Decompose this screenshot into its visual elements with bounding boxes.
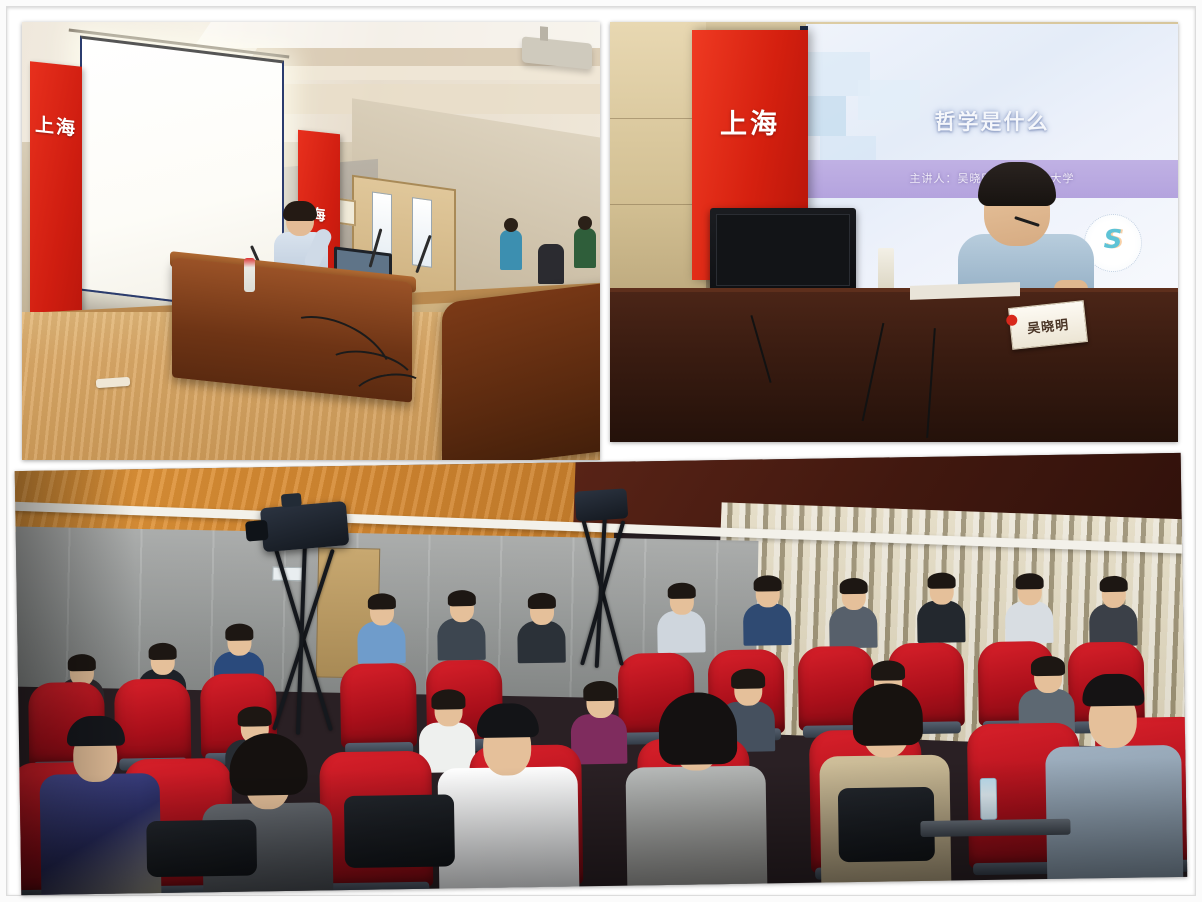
person-hair <box>753 575 781 591</box>
audience-member <box>1089 578 1138 643</box>
audience-member <box>657 584 706 649</box>
person-hair <box>583 681 617 702</box>
person-body <box>1005 601 1054 644</box>
person-hair <box>840 578 868 594</box>
audience-member <box>624 691 767 885</box>
photo-audience-wide <box>15 453 1188 895</box>
audience-member <box>538 244 564 284</box>
person-hair <box>229 733 308 796</box>
scene-lecture-hall: 上海 海 <box>22 22 600 460</box>
audience-member <box>916 574 965 639</box>
photo-speaker-closeup: 哲学是什么 主讲人：吴晓明 教授 复旦大学 S 上海 <box>610 22 1178 442</box>
person-hair <box>68 654 96 671</box>
audience-member <box>574 228 596 268</box>
person-hair <box>927 572 955 588</box>
podium <box>442 281 600 460</box>
photo-collage: 上海 海 <box>0 0 1202 902</box>
person-body <box>625 765 767 893</box>
person-hair <box>668 583 696 599</box>
person-body <box>743 603 792 646</box>
person-body <box>657 610 706 653</box>
person-hair <box>852 683 923 746</box>
bag <box>146 819 257 877</box>
audience-member <box>39 711 162 895</box>
water-bottle <box>244 258 255 292</box>
lecture-desk <box>610 292 1178 442</box>
speaker-hair <box>283 201 317 221</box>
audience-member <box>829 580 878 645</box>
auditorium-seat <box>340 663 417 748</box>
bag <box>344 794 455 868</box>
banner-text: 上海 <box>692 102 808 141</box>
audience-member <box>1044 671 1183 879</box>
person-hair <box>1015 573 1043 589</box>
seat-tray <box>920 819 1070 837</box>
person-hair <box>1100 576 1128 592</box>
audience-member <box>357 595 406 660</box>
person-hair <box>658 692 737 765</box>
person-body <box>571 714 628 765</box>
person-body <box>437 618 486 661</box>
person-body <box>1045 745 1183 885</box>
person-hair <box>237 706 271 727</box>
person-hair <box>528 593 556 609</box>
scene-speaker-closeup: 哲学是什么 主讲人：吴晓明 教授 复旦大学 S 上海 <box>610 22 1178 442</box>
person-hair <box>731 668 765 689</box>
lecturer-hair <box>978 162 1056 206</box>
person-body <box>357 621 406 664</box>
slide-title: 哲学是什么 <box>806 106 1178 136</box>
scene-audience <box>15 453 1188 895</box>
banner-text: 上海 <box>30 109 82 141</box>
person-hair <box>448 590 476 606</box>
person-cap <box>67 715 125 746</box>
person-hair <box>1082 673 1144 706</box>
person-body <box>437 766 579 895</box>
person-body <box>917 600 966 643</box>
water-bottle <box>980 778 998 820</box>
audience-member <box>500 230 522 270</box>
name-card-text: 吴晓明 <box>1010 312 1086 339</box>
person-hair <box>148 643 176 660</box>
audience-member <box>1005 575 1054 640</box>
audience-member <box>437 592 486 657</box>
person-hair <box>225 623 253 640</box>
audience-member <box>436 700 579 888</box>
photo-lecture-hall-wide: 上海 海 <box>22 22 600 460</box>
person-body <box>1089 604 1138 647</box>
video-camera <box>260 501 349 552</box>
ceiling-band <box>265 84 600 114</box>
person-body <box>40 773 162 895</box>
video-camera <box>574 488 628 521</box>
audience-member <box>743 577 792 642</box>
person-body <box>517 621 566 664</box>
person-body <box>829 606 878 649</box>
laptop <box>710 208 856 294</box>
lecturer-person <box>958 162 1094 298</box>
person-hair <box>871 660 905 681</box>
name-card: 吴晓明 <box>1008 300 1088 350</box>
audience-member <box>570 684 627 759</box>
person-hair <box>476 703 539 738</box>
person-hair <box>368 593 396 609</box>
audience-member <box>517 595 566 660</box>
